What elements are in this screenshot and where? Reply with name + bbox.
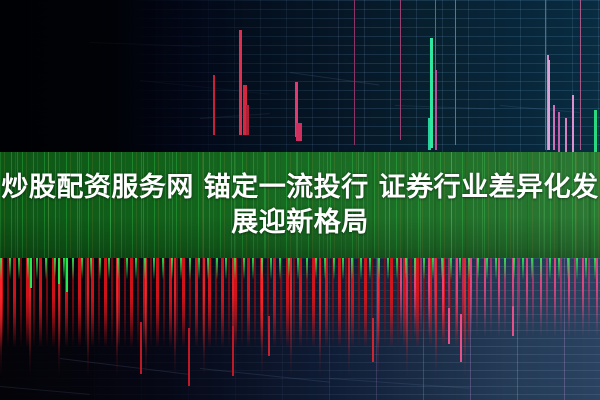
headline-line-1: 炒股配资服务网 锚定一流投行 证券行业差异化发	[1, 172, 598, 205]
candle-spike	[296, 123, 302, 141]
candle-spike	[548, 60, 550, 150]
candle-spike	[188, 328, 190, 386]
candle-spike	[354, 0, 355, 145]
candle-spike	[565, 118, 567, 152]
candle-spike	[512, 306, 514, 336]
candle-spike	[58, 258, 60, 284]
candle-spike	[572, 95, 574, 152]
candle-spike	[246, 105, 249, 135]
candle-spike	[430, 38, 433, 148]
candle-spike	[460, 314, 462, 362]
candle-spike	[455, 0, 456, 145]
candle-spike	[232, 326, 234, 376]
candle-spike	[239, 30, 242, 135]
candle-spike	[140, 322, 142, 374]
green-candle-wicks	[0, 258, 600, 280]
candle-spike	[594, 110, 597, 152]
candle-spike	[553, 105, 555, 150]
candle-spike	[268, 316, 270, 356]
candle-spike	[580, 0, 581, 150]
banner-image: 炒股配资服务网 锚定一流投行 证券行业差异化发 展迎新格局	[0, 0, 600, 400]
candle-spike	[66, 258, 68, 292]
candle-spike	[30, 258, 32, 288]
candle-spike	[558, 112, 560, 152]
candle-spike	[213, 75, 215, 135]
candle-spike	[435, 70, 437, 150]
candle-spike	[372, 318, 374, 362]
headline-text-block: 炒股配资服务网 锚定一流投行 证券行业差异化发 展迎新格局	[0, 152, 600, 260]
headline-line-2: 展迎新格局	[231, 207, 369, 240]
candle-spike	[400, 0, 401, 140]
upper-chart-region	[0, 0, 600, 156]
lower-chart-region	[0, 258, 600, 400]
candle-spike	[545, 0, 546, 150]
candle-spike	[448, 308, 450, 344]
